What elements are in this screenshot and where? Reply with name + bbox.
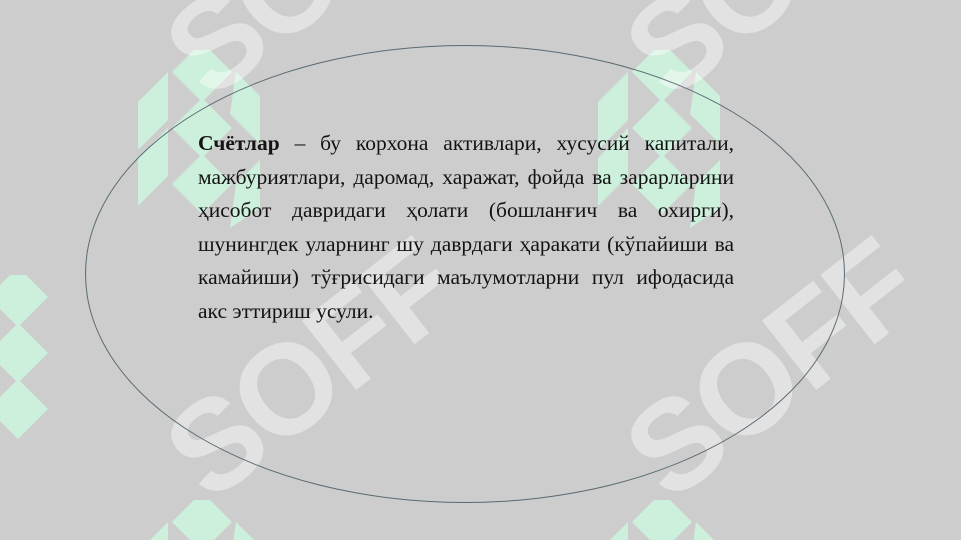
k-logo-icon	[598, 500, 720, 540]
k-logo-icon	[0, 275, 76, 453]
definition-text-block: Счётлар – бу корхона активлари, хусусий …	[198, 127, 734, 329]
k-logo-icon	[138, 500, 260, 540]
definition-body: – бу корхона активлари, хусусий капитали…	[198, 131, 734, 323]
lead-term: Счётлар	[198, 131, 280, 155]
definition-paragraph: Счётлар – бу корхона активлари, хусусий …	[198, 127, 734, 329]
slide-canvas: SOFF SOFF SOFF SOFF SOFF Счётлар – бу ко…	[0, 0, 961, 540]
watermark-text: SOFF	[0, 212, 25, 528]
